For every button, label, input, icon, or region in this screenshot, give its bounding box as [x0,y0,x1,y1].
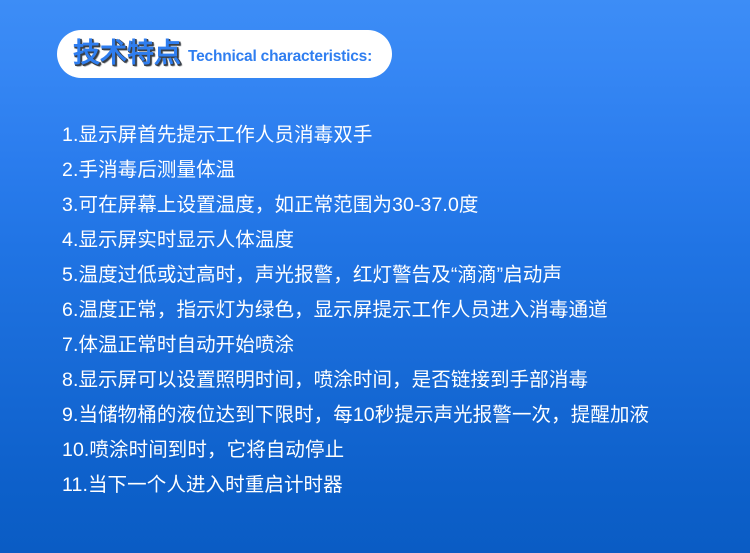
feature-list-item: 9.当储物桶的液位达到下限时，每10秒提示声光报警一次，提醒加液 [62,398,740,433]
section-title-badge: 技术特点 Technical characteristics: [57,30,392,78]
feature-list-item: 3.可在屏幕上设置温度，如正常范围为30-37.0度 [62,188,740,223]
feature-list: 1.显示屏首先提示工作人员消毒双手2.手消毒后测量体温3.可在屏幕上设置温度，如… [62,118,740,503]
feature-list-item: 4.显示屏实时显示人体温度 [62,223,740,258]
section-title-chinese: 技术特点 [73,40,181,67]
feature-list-item: 7.体温正常时自动开始喷涂 [62,328,740,363]
feature-list-item: 1.显示屏首先提示工作人员消毒双手 [62,118,740,153]
feature-list-item: 6.温度正常，指示灯为绿色，显示屏提示工作人员进入消毒通道 [62,293,740,328]
feature-list-item: 8.显示屏可以设置照明时间，喷涂时间，是否链接到手部消毒 [62,363,740,398]
feature-list-item: 2.手消毒后测量体温 [62,153,740,188]
promo-banner: 技术特点 Technical characteristics: 1.显示屏首先提… [0,0,750,553]
feature-list-item: 11.当下一个人进入时重启计时器 [62,468,740,503]
feature-list-item: 10.喷涂时间到时，它将自动停止 [62,433,740,468]
feature-list-item: 5.温度过低或过高时，声光报警，红灯警告及“滴滴”启动声 [62,258,740,293]
section-title-english: Technical characteristics: [188,49,372,65]
